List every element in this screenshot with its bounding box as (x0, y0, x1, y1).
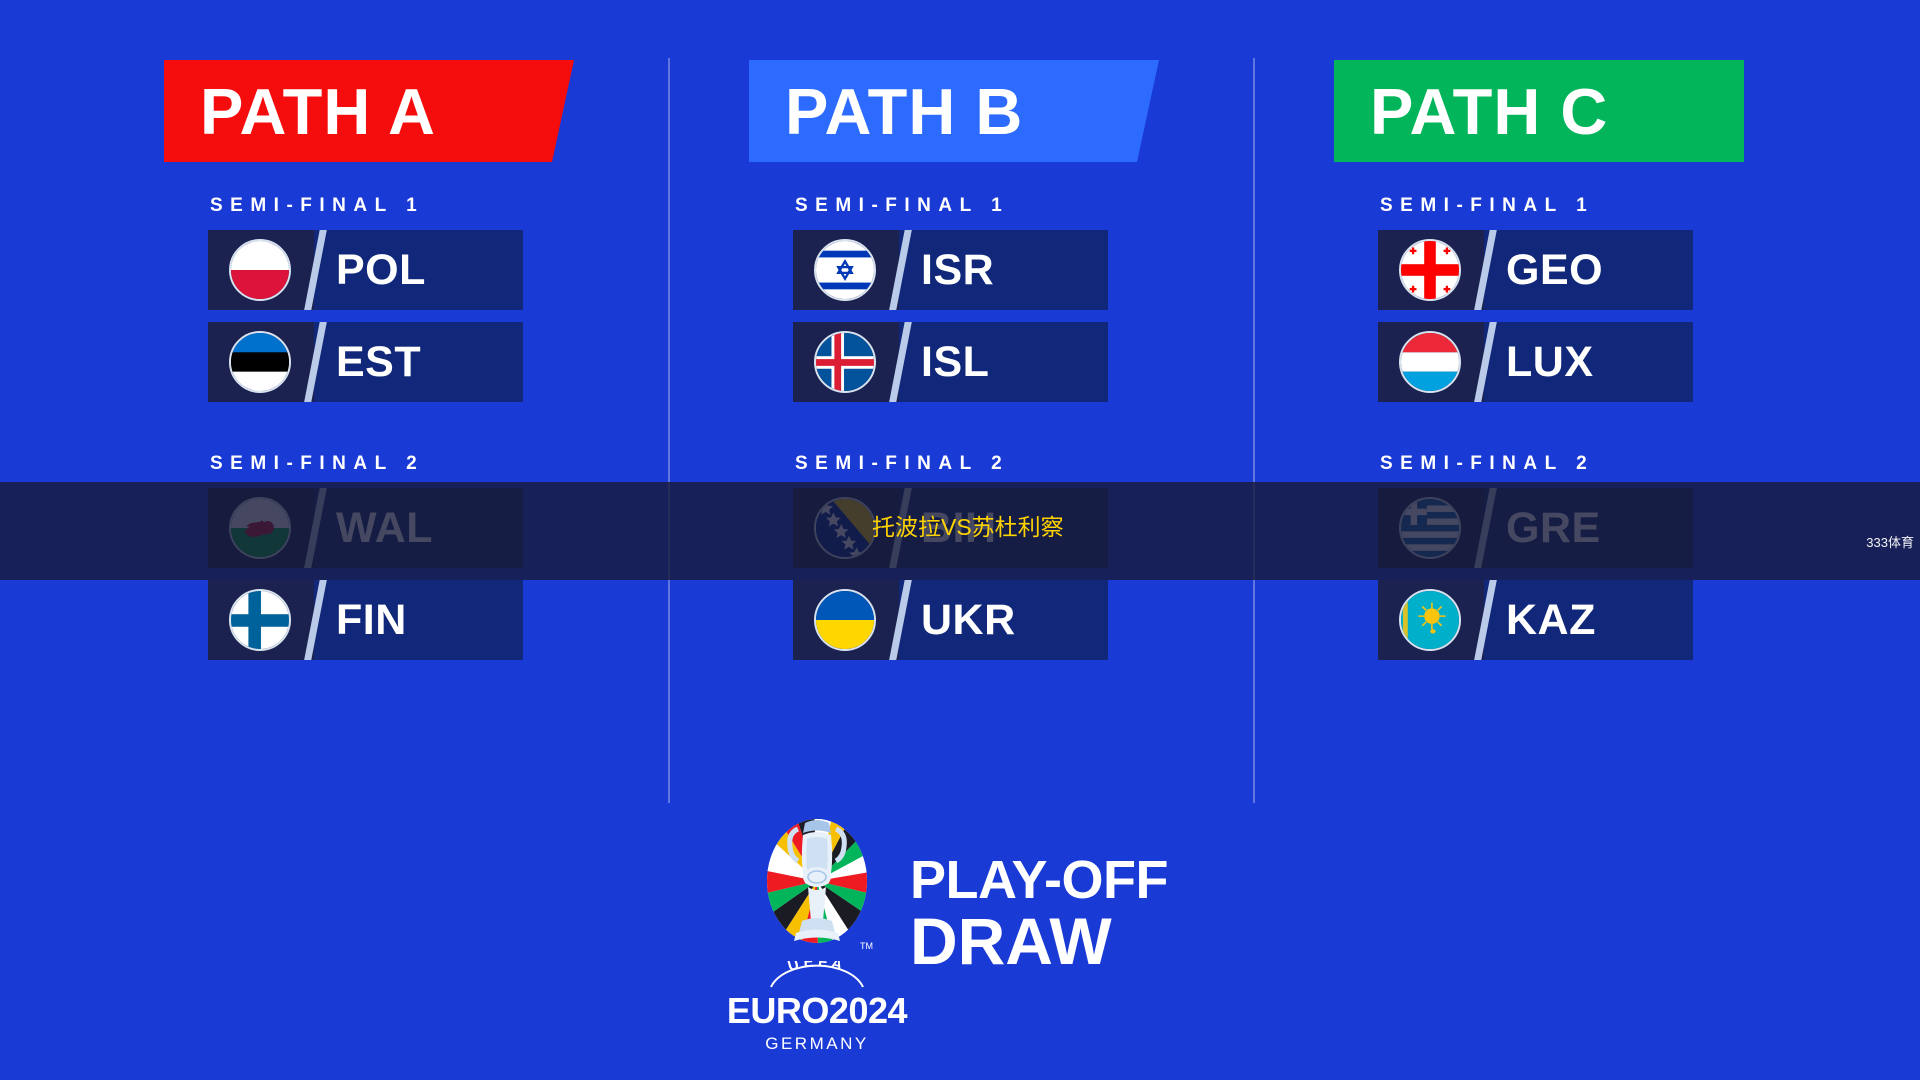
table-row[interactable]: EST (208, 322, 523, 402)
team-code: UKR (921, 599, 1016, 642)
table-row[interactable]: KAZ (1378, 580, 1693, 660)
path-b-semi-2-label: SEMI-FINAL 2 (795, 453, 1305, 475)
luxembourg-flag-icon (1399, 331, 1461, 393)
kazakhstan-flag-icon (1399, 589, 1461, 651)
table-row[interactable]: FIN (208, 580, 523, 660)
team-code: EST (336, 341, 421, 384)
table-row[interactable]: UKR (793, 580, 1108, 660)
path-a-title: PATH A (164, 79, 436, 144)
path-a-banner: PATH A (164, 60, 574, 162)
ticker-overlay-bar: 托波拉VS苏杜利察 333体育 (0, 482, 1920, 580)
team-code: POL (336, 249, 426, 292)
table-row[interactable]: LUX (1378, 322, 1693, 402)
ukraine-flag-icon (814, 589, 876, 651)
table-row[interactable]: GEO (1378, 230, 1693, 310)
path-column-b: PATH B SEMI-FINAL 1 ISR (745, 60, 1305, 672)
euro-2024-trophy-logo-icon: TM (758, 809, 876, 959)
team-code: FIN (336, 599, 407, 642)
headline-line-1: PLAY-OFF (910, 853, 1168, 908)
ticker-text: 托波拉VS苏杜利察 (872, 508, 1064, 542)
path-b-banner: PATH B (749, 60, 1159, 162)
path-c-semi-2-label: SEMI-FINAL 2 (1380, 453, 1890, 475)
footer-branding: TM UEFA EURO2024 GERMANY PLAY-OFF DRAW (0, 809, 1920, 1054)
trademark-label: TM (860, 941, 873, 951)
path-a-semi-2-label: SEMI-FINAL 2 (210, 453, 720, 475)
svg-text:UEFA: UEFA (786, 961, 848, 975)
table-row[interactable]: ISL (793, 322, 1108, 402)
team-code: LUX (1506, 341, 1594, 384)
iceland-flag-icon (814, 331, 876, 393)
georgia-flag-icon (1399, 239, 1461, 301)
path-column-a: PATH A SEMI-FINAL 1 POL EST SEMI-FINAL (160, 60, 720, 672)
path-b-semi-1-label: SEMI-FINAL 1 (795, 195, 1305, 217)
germany-text: GERMANY (765, 1034, 868, 1054)
path-c-title: PATH C (1334, 79, 1608, 144)
team-code: ISR (921, 249, 994, 292)
broadcast-graphic: PATH A SEMI-FINAL 1 POL EST SEMI-FINAL (0, 0, 1920, 1080)
poland-flag-icon (229, 239, 291, 301)
euro-2024-logo: TM UEFA EURO2024 GERMANY (752, 809, 882, 1054)
table-row[interactable]: ISR (793, 230, 1108, 310)
euro-2024-text: EURO2024 (727, 993, 907, 1029)
table-row[interactable]: POL (208, 230, 523, 310)
team-code: ISL (921, 341, 989, 384)
path-a-semi-1-label: SEMI-FINAL 1 (210, 195, 720, 217)
watermark-text: 333体育 (1866, 532, 1914, 551)
finland-flag-icon (229, 589, 291, 651)
estonia-flag-icon (229, 331, 291, 393)
euro-logo-wordmark: UEFA EURO2024 GERMANY (727, 961, 907, 1054)
path-column-c: PATH C SEMI-FINAL 1 (1330, 60, 1890, 672)
path-c-banner: PATH C (1334, 60, 1744, 162)
israel-flag-icon (814, 239, 876, 301)
team-code: GEO (1506, 249, 1603, 292)
playoff-draw-headline: PLAY-OFF DRAW (910, 853, 1168, 975)
paths-container: PATH A SEMI-FINAL 1 POL EST SEMI-FINAL (0, 0, 1920, 830)
path-c-semi-1-label: SEMI-FINAL 1 (1380, 195, 1890, 217)
path-b-title: PATH B (749, 79, 1023, 144)
headline-line-2: DRAW (910, 908, 1168, 975)
team-code: KAZ (1506, 599, 1596, 642)
